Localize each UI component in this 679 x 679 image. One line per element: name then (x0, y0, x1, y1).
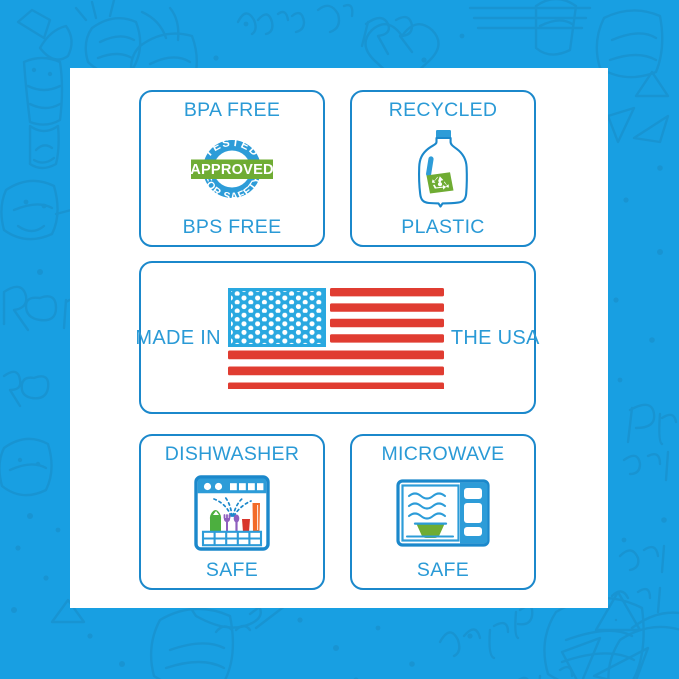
usa-flag-icon (227, 287, 445, 389)
panel-made-in-usa[interactable]: MADE IN (139, 261, 536, 414)
usa-flag-icon-wrap (221, 287, 451, 389)
microwave-icon (396, 479, 490, 547)
panel-dishwasher-top-label: DISHWASHER (165, 445, 299, 465)
panel-bpa-free[interactable]: BPA FREE TESTED FOR SAFETY (139, 90, 325, 247)
panel-recycled-plastic[interactable]: RECYCLED (350, 90, 536, 247)
panel-bpa-bottom-label: BPS FREE (183, 218, 282, 238)
panel-dishwasher-bottom-label: SAFE (206, 561, 258, 581)
approved-seal-icon-wrap: TESTED FOR SAFETY APPROVED (147, 121, 317, 218)
panel-recycled-bottom-label: PLASTIC (401, 218, 484, 238)
panel-microwave-bottom-label: SAFE (417, 561, 469, 581)
microwave-icon-wrap (358, 465, 528, 561)
panel-microwave-safe[interactable]: MICROWAVE (350, 434, 536, 590)
seal-center-text: APPROVED (190, 162, 274, 178)
dishwasher-icon (194, 475, 270, 551)
milk-jug-recycle-icon-wrap (358, 121, 528, 218)
approved-seal-icon: TESTED FOR SAFETY APPROVED (184, 130, 280, 208)
panel-bpa-top-label: BPA FREE (184, 101, 280, 121)
panel-microwave-top-label: MICROWAVE (382, 445, 505, 465)
panel-dishwasher-safe[interactable]: DISHWASHER (139, 434, 325, 590)
white-content-card: BPA FREE TESTED FOR SAFETY (70, 68, 608, 608)
panel-recycled-top-label: RECYCLED (389, 101, 498, 121)
panel-usa-right-label: THE USA (451, 328, 540, 348)
dishwasher-icon-wrap (147, 465, 317, 561)
infographic-canvas: BPA FREE TESTED FOR SAFETY (0, 0, 679, 679)
panel-usa-left-label: MADE IN (135, 328, 220, 348)
milk-jug-recycle-icon (407, 128, 479, 210)
